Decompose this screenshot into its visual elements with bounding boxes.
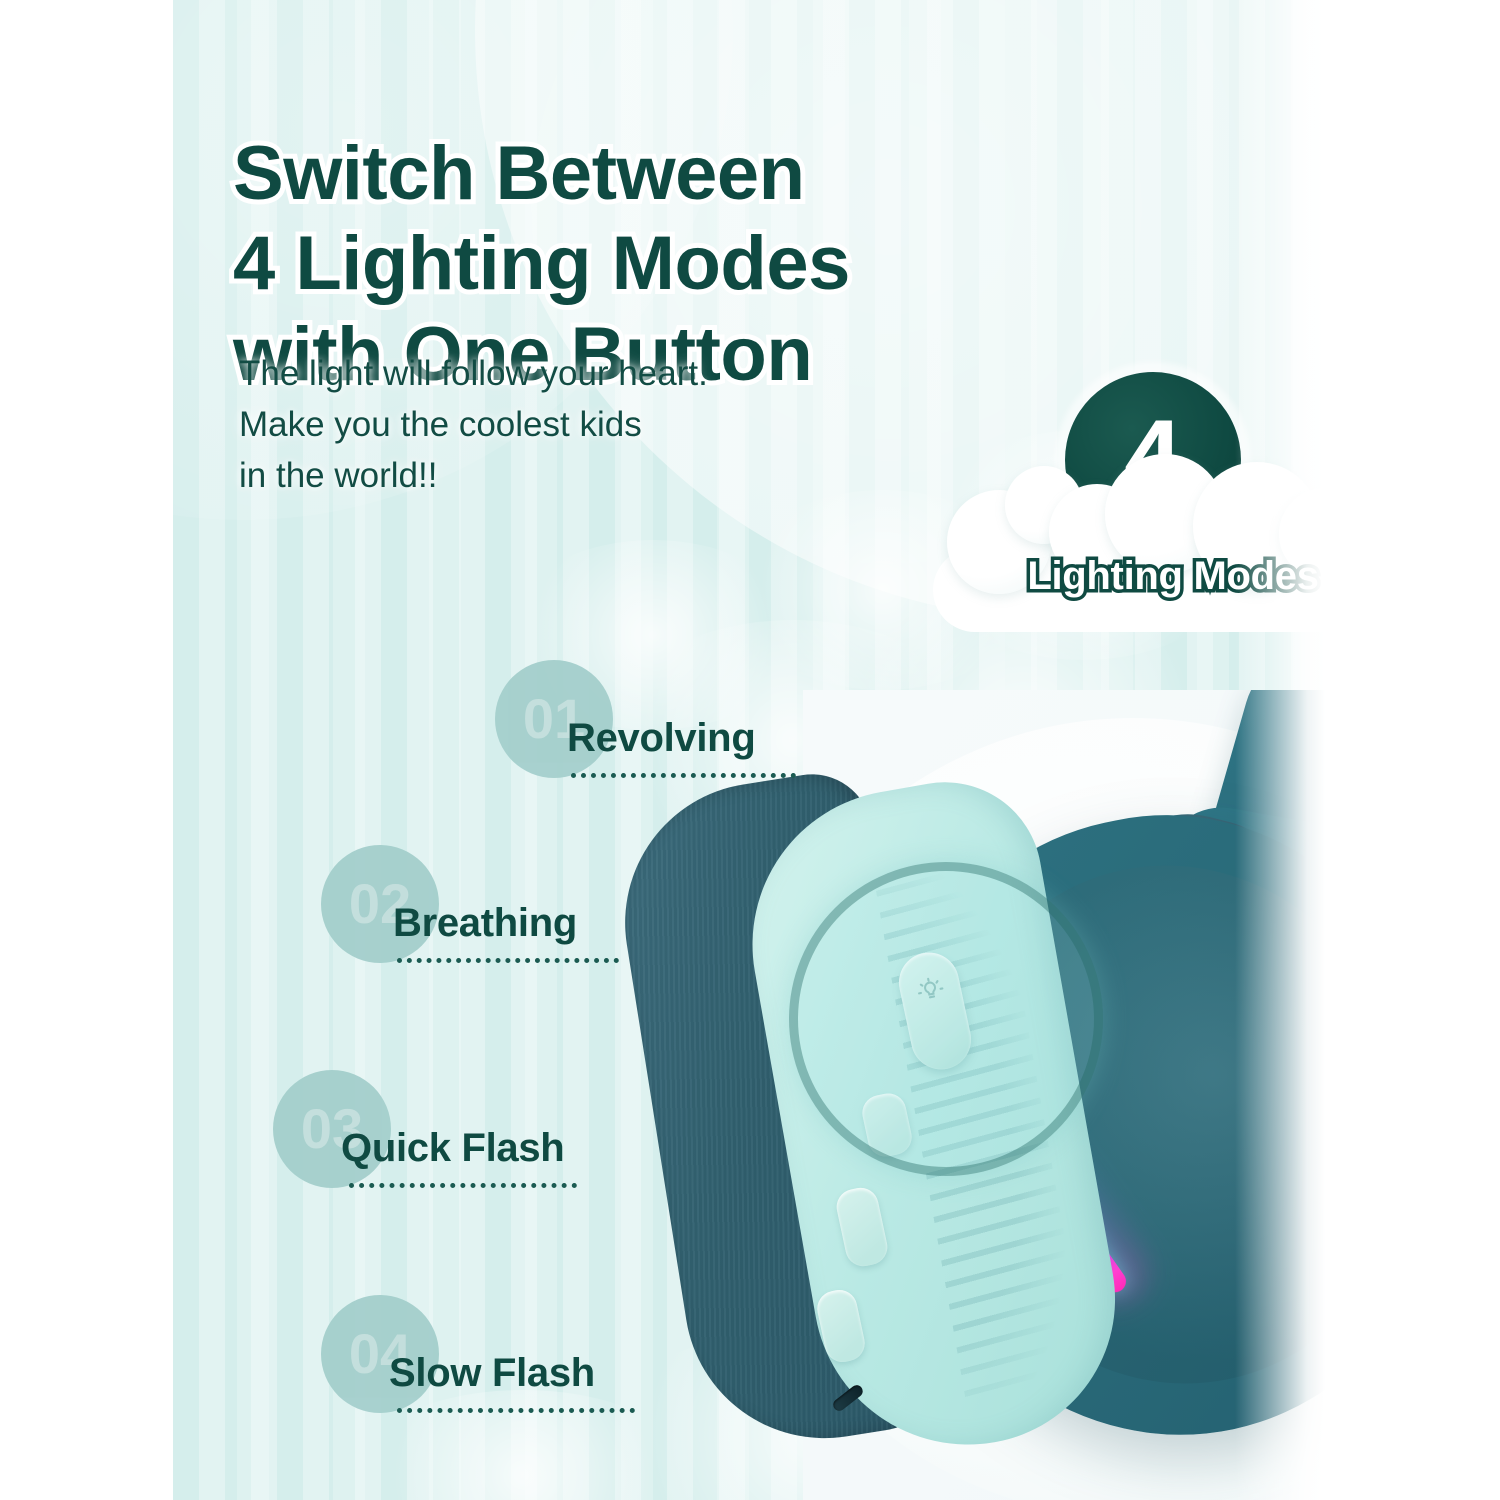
subtitle-text: The light will follow your heart. Make y… (239, 348, 879, 501)
mode-dotted-underline (349, 1178, 577, 1188)
mode-dotted-underline (397, 1403, 635, 1413)
mode-label: Breathing (393, 901, 577, 946)
headline-line-1: Switch Between (233, 129, 1063, 219)
subtitle-line-2: Make you the coolest kids (239, 399, 879, 450)
mode-label: Slow Flash (389, 1351, 595, 1396)
mode-dotted-underline (571, 768, 796, 778)
lighting-modes-badge: 4 Lighting Modes (1043, 358, 1323, 648)
promo-banner: Switch Between 4 Lighting Modes with One… (0, 0, 1500, 1500)
mode-dotted-underline (397, 953, 619, 963)
headline-line-2: 4 Lighting Modes (233, 219, 1063, 309)
mint-card-background: Switch Between 4 Lighting Modes with One… (173, 0, 1325, 1500)
button-highlight-ring (789, 862, 1103, 1176)
subtitle-line-3: in the world!! (239, 450, 879, 501)
mode-label: Quick Flash (341, 1126, 564, 1171)
headphones-product-photo (603, 690, 1325, 1500)
subtitle-line-1: The light will follow your heart. (239, 348, 879, 399)
mode-label: Revolving (567, 716, 755, 761)
badge-label: Lighting Modes (943, 554, 1325, 599)
